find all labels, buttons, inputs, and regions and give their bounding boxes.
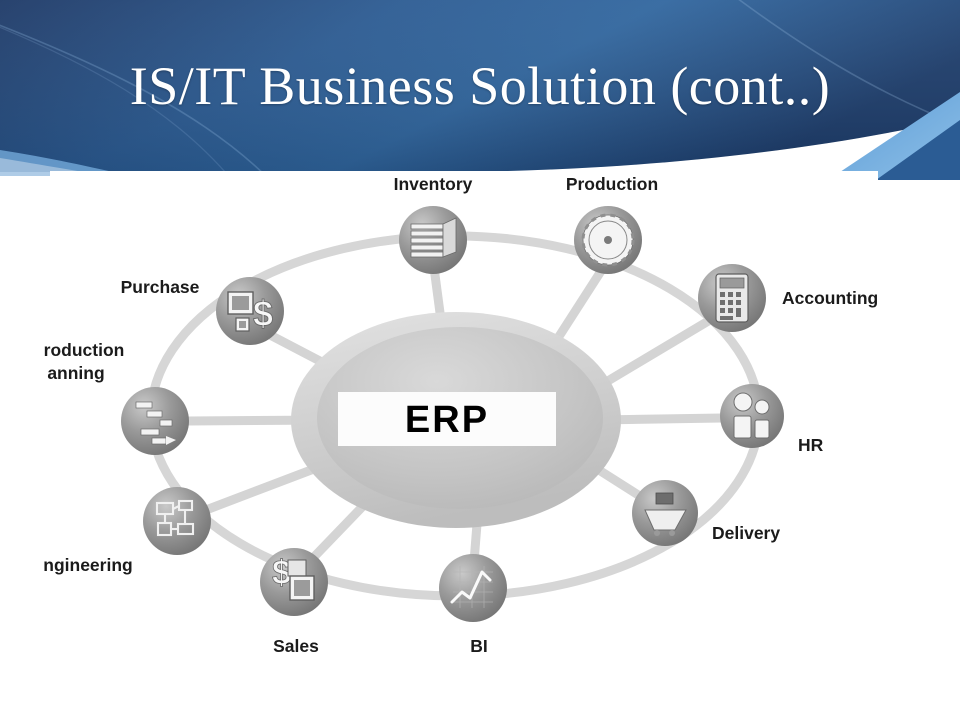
node-sales-label: Sales [273, 636, 319, 656]
node-hr-label: HR [798, 435, 824, 455]
svg-text:$: $ [253, 293, 273, 334]
node-engineering-label: ngineering [43, 555, 132, 575]
erp-hub-spoke-diagram: ERP Inventory [0, 168, 960, 678]
node-sales[interactable]: $ Sales [260, 548, 328, 656]
slide-canvas: IS/IT Business Solution (cont..) [0, 0, 960, 720]
node-inventory-label: Inventory [394, 174, 473, 194]
node-production-planning-circle[interactable] [121, 387, 189, 455]
node-production[interactable]: Production [566, 174, 658, 274]
node-hr[interactable]: HR [720, 384, 824, 455]
node-hr-circle[interactable] [720, 384, 784, 448]
node-production-planning-label-line2: anning [47, 363, 104, 383]
gear-icon [583, 215, 633, 265]
node-bi[interactable]: BI [439, 554, 507, 656]
node-production-planning-label-line1: roduction [44, 340, 125, 360]
node-accounting-label: Accounting [782, 288, 878, 308]
node-inventory[interactable]: Inventory [394, 174, 473, 274]
node-delivery-label: Delivery [712, 523, 780, 543]
node-engineering-circle[interactable] [143, 487, 211, 555]
node-purchase-label: Purchase [121, 277, 200, 297]
node-bi-label: BI [470, 636, 488, 656]
page-title: IS/IT Business Solution (cont..) [0, 58, 960, 115]
node-accounting[interactable]: Accounting [698, 264, 878, 332]
erp-core-label: ERP [405, 399, 489, 441]
node-engineering[interactable]: ngineering [43, 487, 211, 575]
node-production-label: Production [566, 174, 658, 194]
calculator-icon [716, 274, 748, 322]
